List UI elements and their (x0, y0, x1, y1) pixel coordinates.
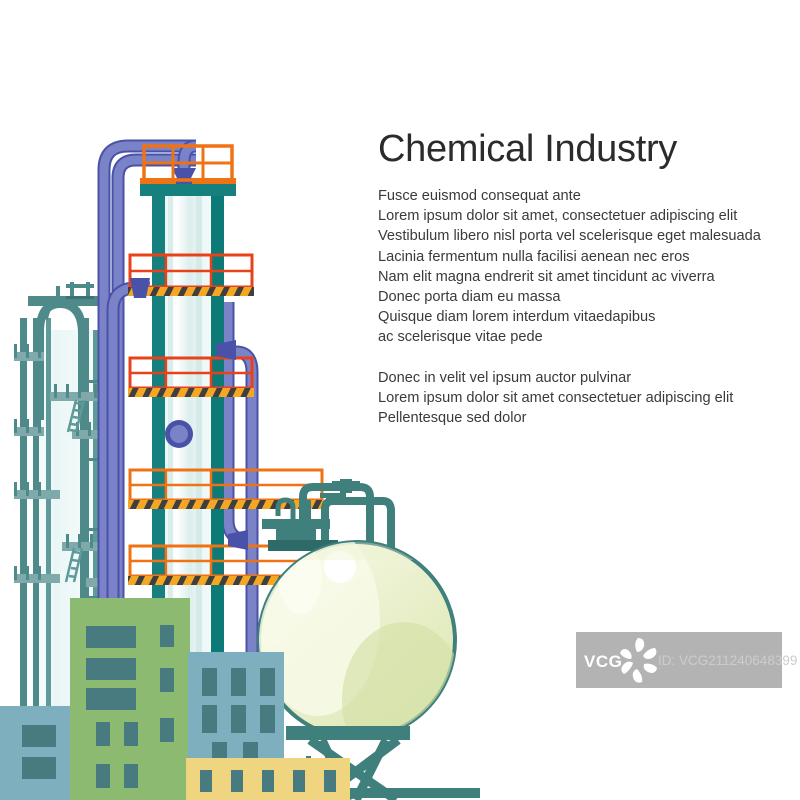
watermark-id-label: ID: VCG211240648399 (658, 653, 797, 668)
spherical-storage-tank (256, 479, 480, 800)
text-block: Chemical Industry Fusce euismod consequa… (378, 126, 778, 428)
body-paragraph-2: Donec in velit vel ipsum auctor pulvinar… (378, 368, 778, 429)
paragraph-2-line-2: Lorem ipsum dolor sit amet consectetuer … (378, 388, 778, 408)
paragraph-1-line-2: Lorem ipsum dolor sit amet, consectetuer… (378, 206, 778, 226)
vcg-logo: VCG (576, 632, 662, 688)
paragraph-1-line-5: Nam elit magna endrerit sit amet tincidu… (378, 267, 778, 287)
body-paragraph-1: Fusce euismod consequat ante Lorem ipsum… (378, 186, 778, 348)
poster-canvas: Chemical Industry Fusce euismod consequa… (0, 0, 800, 800)
building-left-small (0, 706, 70, 800)
paragraph-1-line-7: Quisque diam lorem interdum vitaedapibus (378, 307, 778, 327)
paragraph-1-line-1: Fusce euismod consequat ante (378, 186, 778, 206)
paragraph-1-line-4: Lacinia fermentum nulla facilisi aenean … (378, 247, 778, 267)
watermark: VCG ID: VCG211240648399 (576, 632, 782, 688)
paragraph-1-line-3: Vestibulum libero nisl porta vel sceleri… (378, 226, 778, 246)
page-title: Chemical Industry (378, 126, 778, 172)
paragraph-2-line-3: Pellentesque sed dolor (378, 408, 778, 428)
paragraph-1-line-8: ac scelerisque vitae pede (378, 327, 778, 347)
paragraph-1-line-6: Donec porta diam eu massa (378, 287, 778, 307)
paragraph-2-line-1: Donec in velit vel ipsum auctor pulvinar (378, 368, 778, 388)
building-yellow (186, 758, 350, 800)
pipe-valve-flange (165, 420, 193, 448)
building-green (70, 598, 190, 800)
burst-icon (614, 636, 660, 684)
